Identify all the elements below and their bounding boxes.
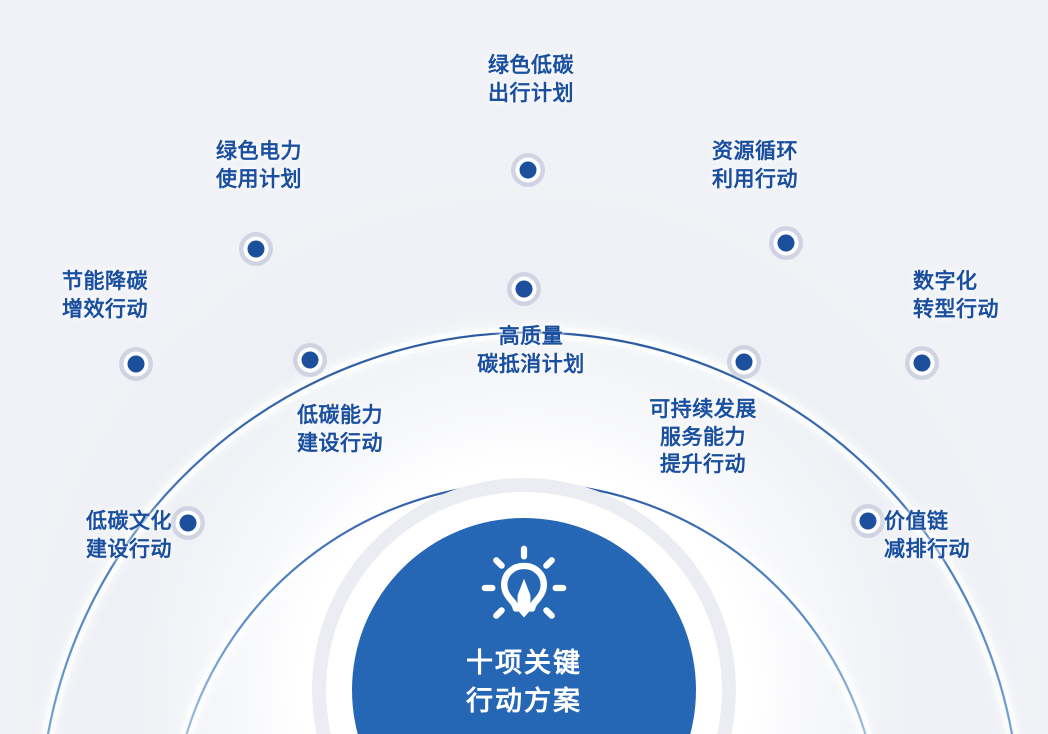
label-line: 建设行动: [297, 430, 383, 458]
label-value-chain-emission-reduction[interactable]: 价值链 减排行动: [884, 508, 970, 563]
node-green-electricity-usage-plan[interactable]: [239, 232, 273, 266]
label-line: 数字化: [913, 268, 999, 296]
label-line: 出行计划: [488, 80, 574, 108]
label-line: 增效行动: [62, 296, 148, 324]
label-energy-saving-carbon-reduction[interactable]: 节能降碳 增效行动: [62, 268, 148, 323]
label-line: 减排行动: [884, 536, 970, 564]
center-title: 十项关键 行动方案: [466, 644, 582, 721]
label-line: 资源循环: [712, 138, 798, 166]
center-title-line: 十项关键: [466, 644, 582, 682]
node-value-chain-emission-reduction[interactable]: [851, 504, 885, 538]
label-line: 转型行动: [913, 296, 999, 324]
label-high-quality-carbon-offset-plan[interactable]: 高质量 碳抵消计划: [477, 323, 585, 378]
node-green-low-carbon-travel-plan[interactable]: [511, 153, 545, 187]
label-low-carbon-culture-construction[interactable]: 低碳文化 建设行动: [86, 508, 172, 563]
label-line: 服务能力: [649, 424, 757, 452]
center-title-line: 行动方案: [466, 682, 582, 720]
label-line: 建设行动: [86, 536, 172, 564]
label-line: 低碳文化: [86, 508, 172, 536]
lightbulb-icon: [478, 542, 570, 634]
label-line: 利用行动: [712, 166, 798, 194]
label-line: 可持续发展: [649, 396, 757, 424]
label-green-low-carbon-travel-plan[interactable]: 绿色低碳 出行计划: [488, 52, 574, 107]
node-low-carbon-capability-construction[interactable]: [293, 343, 327, 377]
label-green-electricity-usage-plan[interactable]: 绿色电力 使用计划: [216, 138, 302, 193]
label-line: 碳抵消计划: [477, 351, 585, 379]
label-low-carbon-capability-construction[interactable]: 低碳能力 建设行动: [297, 402, 383, 457]
label-sustainable-development-service[interactable]: 可持续发展 服务能力 提升行动: [649, 396, 757, 479]
label-resource-recycling-action[interactable]: 资源循环 利用行动: [712, 138, 798, 193]
label-line: 价值链: [884, 508, 970, 536]
node-resource-recycling-action[interactable]: [769, 226, 803, 260]
node-energy-saving-carbon-reduction[interactable]: [119, 347, 153, 381]
node-high-quality-carbon-offset-plan[interactable]: [507, 272, 541, 306]
infographic-canvas: 节能降碳 增效行动 绿色电力 使用计划 绿色低碳 出行计划 资源循环 利用行动 …: [0, 0, 1048, 734]
label-line: 使用计划: [216, 166, 302, 194]
label-digital-transformation-action[interactable]: 数字化 转型行动: [913, 268, 999, 323]
node-digital-transformation-action[interactable]: [905, 346, 939, 380]
label-line: 低碳能力: [297, 402, 383, 430]
label-line: 绿色低碳: [488, 52, 574, 80]
node-low-carbon-culture-construction[interactable]: [171, 506, 205, 540]
label-line: 高质量: [477, 323, 585, 351]
label-line: 提升行动: [649, 451, 757, 479]
node-sustainable-development-service[interactable]: [727, 345, 761, 379]
label-line: 节能降碳: [62, 268, 148, 296]
label-line: 绿色电力: [216, 138, 302, 166]
